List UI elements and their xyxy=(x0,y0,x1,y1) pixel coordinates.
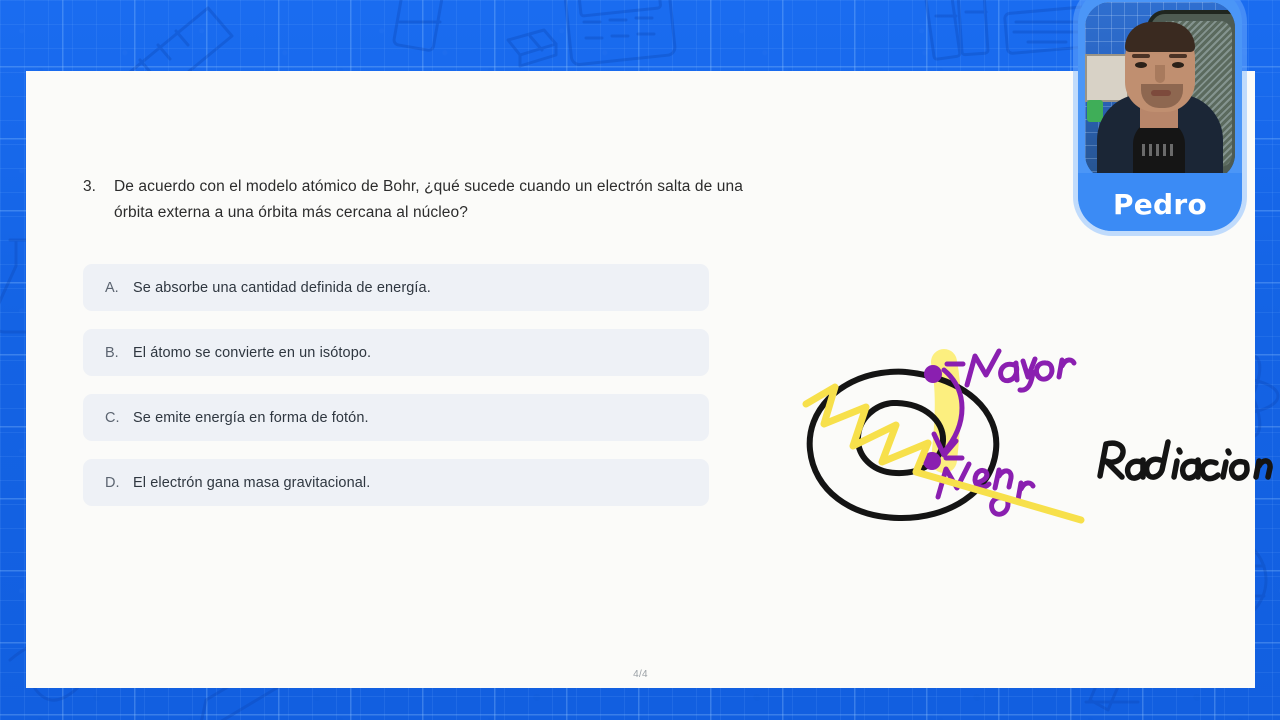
webcam-plant xyxy=(1087,100,1103,122)
question-number: 3. xyxy=(83,174,114,200)
question-block: 3. De acuerdo con el modelo atómico de B… xyxy=(83,174,743,225)
option-b[interactable]: B. El átomo se convierte en un isótopo. xyxy=(83,329,709,376)
option-c-letter: C. xyxy=(105,410,133,426)
doodle-eraser-icon xyxy=(508,30,556,66)
presenter-hair xyxy=(1125,22,1195,52)
option-a-letter: A. xyxy=(105,280,133,296)
presenter-name: Pedro xyxy=(1078,188,1242,221)
option-c[interactable]: C. Se emite energía en forma de fotón. xyxy=(83,394,709,441)
slide-canvas: 3. De acuerdo con el modelo atómico de B… xyxy=(26,71,1255,688)
options-list: A. Se absorbe una cantidad definida de e… xyxy=(83,264,709,524)
option-d-letter: D. xyxy=(105,475,133,491)
option-b-text: El átomo se convierte en un isótopo. xyxy=(133,345,371,361)
option-a[interactable]: A. Se absorbe una cantidad definida de e… xyxy=(83,264,709,311)
presenter-eye-left xyxy=(1135,62,1147,68)
presenter-brow-right xyxy=(1169,54,1187,58)
option-d[interactable]: D. El electrón gana masa gravitacional. xyxy=(83,459,709,506)
question-text: De acuerdo con el modelo atómico de Bohr… xyxy=(114,174,743,225)
doodle-calculator-icon xyxy=(564,0,675,65)
option-b-letter: B. xyxy=(105,345,133,361)
option-c-text: Se emite energía en forma de fotón. xyxy=(133,410,369,426)
doodle-books-icon xyxy=(926,0,988,60)
webcam-video xyxy=(1085,2,1235,180)
presenter-shirt xyxy=(1133,120,1185,180)
presentation-stage: 3. De acuerdo con el modelo atómico de B… xyxy=(0,0,1280,720)
option-d-text: El electrón gana masa gravitacional. xyxy=(133,475,370,491)
presenter-mouth xyxy=(1151,90,1171,96)
presenter-nose xyxy=(1155,65,1165,83)
page-counter: 4/4 xyxy=(26,669,1255,680)
option-a-text: Se absorbe una cantidad definida de ener… xyxy=(133,280,431,296)
doodle-beaker-icon xyxy=(393,0,442,51)
presenter-brow-left xyxy=(1132,54,1150,58)
presenter-eye-right xyxy=(1172,62,1184,68)
webcam-shelf xyxy=(1085,54,1129,102)
webcam-overlay[interactable]: Pedro xyxy=(1078,0,1242,231)
